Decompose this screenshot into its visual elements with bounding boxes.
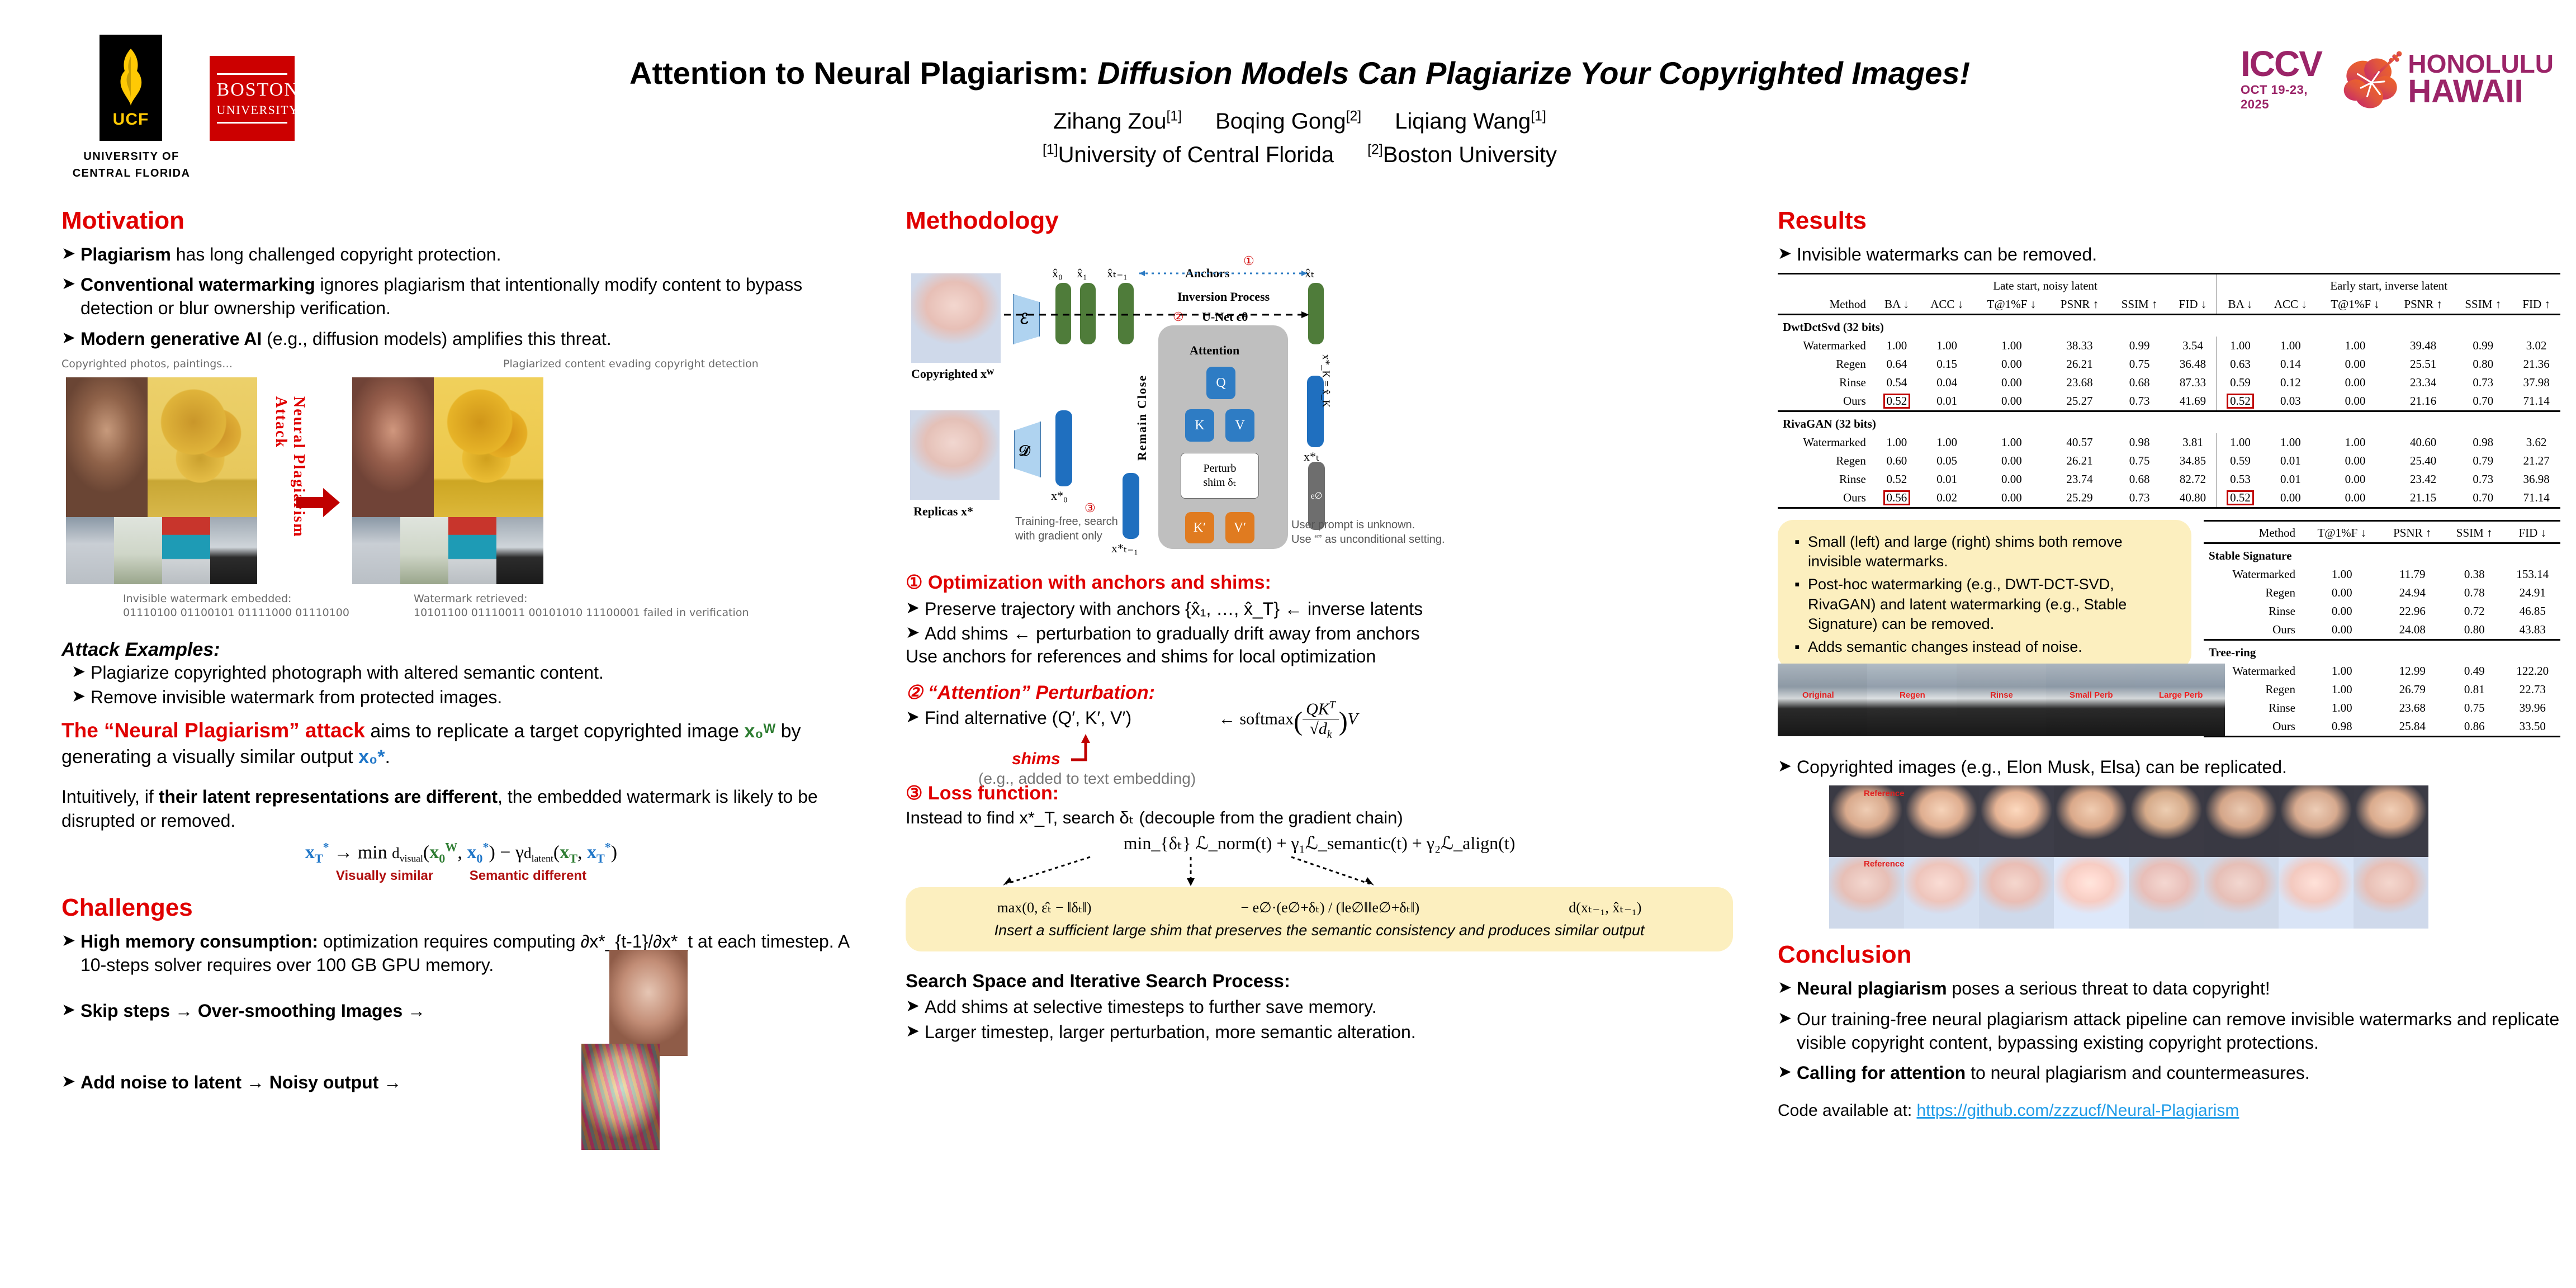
image-plane-plagiarized	[400, 517, 448, 584]
cell: 71.14	[2512, 489, 2560, 508]
cell: 23.74	[2049, 470, 2110, 489]
square-bullet-icon: ▪	[1794, 532, 1808, 571]
cell: 0.75	[2110, 355, 2169, 373]
table1-col-12: FID ↑	[2512, 295, 2560, 315]
cell: 0.02	[1920, 489, 1974, 508]
step-1-bullet-1: Preserve trajectory with anchors {x̂₁, ……	[925, 597, 1733, 621]
cell: 122.20	[2505, 662, 2560, 680]
training-free-line2: with gradient only	[1015, 529, 1121, 543]
table-section-row: DwtDctSvd (32 bits)	[1778, 315, 2560, 337]
callout-item: ▪ Post-hoc watermarking (e.g., DWT-DCT-S…	[1794, 575, 2175, 633]
cell: 26.21	[2049, 452, 2110, 470]
table1-col-3: T@1%F ↓	[1974, 295, 2049, 315]
cell: 0.86	[2444, 717, 2505, 737]
loss-term-norm: max(0, ε̂ₜ − ‖δₜ‖)	[997, 899, 1092, 916]
ucf-logo: UCF	[100, 35, 162, 141]
musk-cell	[1979, 785, 2054, 857]
author-1-sup: [1]	[1166, 109, 1182, 124]
cell: 40.80	[2169, 489, 2217, 508]
square-bullet-icon: ▪	[1794, 575, 1808, 633]
elsa-cell	[2279, 857, 2354, 929]
table-row: Rinse 1.00 23.68 0.75 39.96	[2204, 699, 2560, 717]
row-method: Watermarked	[1778, 433, 1874, 452]
conclusion-bullet: ➤ Calling for attention to neural plagia…	[1778, 1061, 2560, 1085]
bullet-arrow-icon: ➤	[61, 999, 80, 1022]
bullet-arrow-icon: ➤	[906, 622, 925, 645]
table-row: Rinse 0.54 0.04 0.00 23.68 0.68 87.33 0.…	[1778, 373, 2560, 392]
author-list: Zihang Zou[1]Boqing Gong[2]Liqiang Wang[…	[414, 106, 2186, 136]
table-row: Rinse 0.52 0.01 0.00 23.74 0.68 82.72 0.…	[1778, 470, 2560, 489]
cell: 3.02	[2512, 337, 2560, 355]
cell: 46.85	[2505, 602, 2560, 621]
cell: 0.01	[1920, 392, 1974, 411]
reference-label: Reference	[1864, 859, 1905, 869]
cell: 0.15	[1920, 355, 1974, 373]
cell: 1.00	[2303, 680, 2381, 699]
cell: 43.83	[2505, 621, 2560, 640]
moto-label-4: Large Perb	[2159, 690, 2203, 700]
table-row-ours: Ours 0.52 0.01 0.00 25.27 0.73 41.69 0.5…	[1778, 392, 2560, 411]
cell: 0.00	[2264, 489, 2318, 508]
cell: 0.14	[2264, 355, 2318, 373]
cell: 0.05	[1920, 452, 1974, 470]
table-row: Watermarked 1.00 1.00 1.00 40.57 0.98 3.…	[1778, 433, 2560, 452]
cell: 3.81	[2169, 433, 2217, 452]
cell: 0.00	[2318, 470, 2393, 489]
musk-cell	[2054, 785, 2129, 857]
callout-text-3: Adds semantic changes instead of noise.	[1808, 637, 2082, 657]
cell: 0.53	[2217, 470, 2264, 489]
cell: 37.98	[2512, 373, 2560, 392]
table-row: Regen 1.00 26.79 0.81 22.73	[2204, 680, 2560, 699]
cell: 21.15	[2393, 489, 2454, 508]
iccv-date: OCT 19-23, 2025	[2241, 83, 2335, 112]
cell: 0.99	[2110, 337, 2169, 355]
moto-label-3: Small Perb	[2070, 690, 2113, 700]
cell: 0.03	[2264, 392, 2318, 411]
cell: 24.08	[2381, 621, 2444, 640]
table-row: Regen 0.60 0.05 0.00 26.21 0.75 34.85 0.…	[1778, 452, 2560, 470]
table2-col-0: Method	[2204, 521, 2303, 543]
motivation-bullet-1-rest: has long challenged copyright protection…	[171, 244, 501, 264]
step-1-note: Use anchors for references and shims for…	[906, 646, 1733, 667]
motorcycle-comparison-strip: Original Regen Rinse Small Perb Large Pe…	[1778, 664, 2231, 736]
motivation-bullet-3-bold: Modern generative AI	[80, 329, 262, 349]
iccv-wordmark: ICCV	[2241, 47, 2322, 81]
square-bullet-icon: ▪	[1794, 637, 1808, 657]
cell: 25.51	[2393, 355, 2454, 373]
highlighted-cell: 0.52	[1884, 394, 1910, 408]
cell: 25.84	[2381, 717, 2444, 737]
user-prompt-note: User prompt is unknown. Use “” as uncond…	[1291, 518, 1459, 547]
cell: 0.00	[1974, 355, 2049, 373]
attack-examples-heading: Attack Examples:	[61, 639, 861, 661]
table2-col-2: PSNR ↑	[2381, 521, 2444, 543]
attention-label: Attention	[1190, 343, 1239, 358]
table-section-row: Tree-ring	[2204, 640, 2560, 662]
title-plain: Attention to Neural Plagiarism:	[629, 55, 1088, 91]
row-method: Ours	[1778, 392, 1874, 411]
callout-item: ▪ Small (left) and large (right) shims b…	[1794, 532, 2175, 571]
motivation-bullet-1-bold: Plagiarism	[80, 244, 171, 264]
attack-example-item: ➤ Plagiarize copyrighted photograph with…	[72, 661, 861, 684]
cell: 0.00	[2303, 621, 2381, 640]
cell: 0.00	[1974, 373, 2049, 392]
perturb-line-1: Perturb	[1204, 462, 1237, 476]
cell: 23.34	[2393, 373, 2454, 392]
diagram-label-copyrighted: Copyrighted xᵂ	[911, 367, 994, 381]
bu-wordmark-boston: BOSTON	[217, 79, 288, 101]
ucf-wordmark: UCF	[113, 110, 149, 129]
highlighted-cell: 0.52	[2227, 491, 2253, 505]
cell: 12.99	[2381, 662, 2444, 680]
step-2-bullet-text: Find alternative (Q′, K′, V′)	[925, 706, 1131, 730]
moto-cell-small-perb: Small Perb	[2046, 664, 2135, 736]
cell: 1.00	[1874, 433, 1920, 452]
table1-section-0-name: DwtDctSvd (32 bits)	[1778, 315, 2560, 337]
image-copyrighted-elsa	[911, 273, 1001, 363]
conclusion-bullet: ➤ Our training-free neural plagiarism at…	[1778, 1007, 2560, 1054]
bullet-arrow-icon: ➤	[61, 1071, 80, 1094]
bullet-arrow-icon: ➤	[1778, 1061, 1797, 1085]
cell: 0.54	[1874, 373, 1920, 392]
elsa-cell	[2354, 857, 2428, 929]
cell: 0.75	[2444, 699, 2505, 717]
latent-label-x1hat: x̂₁	[1077, 266, 1087, 281]
cell: 0.00	[1974, 452, 2049, 470]
motivation-bullet: ➤ Modern generative AI (e.g., diffusion …	[61, 327, 861, 351]
hibiscus-flower-icon	[2340, 46, 2403, 113]
cell: 1.00	[2303, 662, 2381, 680]
affiliation-list: [1]University of Central Florida[2]Bosto…	[414, 140, 2186, 170]
cell: 24.91	[2505, 584, 2560, 602]
challenge-bullet: ➤ High memory consumption: optimization …	[61, 930, 861, 977]
row-method: Rinse	[1778, 470, 1874, 489]
image-sunflowers-original	[148, 377, 257, 517]
table-row-ours: Ours 0.56 0.02 0.00 25.29 0.73 40.80 0.5…	[1778, 489, 2560, 508]
table1-col-2: ACC ↓	[1920, 295, 1974, 315]
cell: 1.00	[1920, 433, 1974, 452]
cell: 0.04	[1920, 373, 1974, 392]
search-bullet-1: Add shims at selective timesteps to furt…	[925, 995, 1733, 1019]
loss-callout-box: max(0, ε̂ₜ − ‖δₜ‖) − e∅·(e∅+δₜ) / (‖e∅‖‖…	[906, 887, 1733, 951]
iccv-city: HONOLULU	[2408, 52, 2554, 77]
column-right: Results ➤ Invisible watermarks can be re…	[1778, 207, 2560, 1120]
cell: 1.00	[1920, 337, 1974, 355]
cell: 0.73	[2454, 373, 2512, 392]
row-method: Regen	[1778, 452, 1874, 470]
musk-cell	[2129, 785, 2204, 857]
column-middle: Methodology Copyrighted xᵂ ℰ x̂₀ x̂₁ x̂ₜ…	[906, 207, 1733, 1050]
image-traffic-plagiarized	[352, 517, 400, 584]
table-row: Rinse 0.00 22.96 0.72 46.85	[2204, 602, 2560, 621]
table-row: Watermarked 1.00 1.00 1.00 38.33 0.99 3.…	[1778, 337, 2560, 355]
remain-close-label: Remain Close	[1135, 360, 1149, 461]
poster-header: UCF UNIVERSITY OF CENTRAL FLORIDA BOSTON…	[0, 0, 2576, 201]
author-2-sup: [2]	[1346, 109, 1362, 124]
cell: 0.49	[2444, 662, 2505, 680]
methodology-diagram: Copyrighted xᵂ ℰ x̂₀ x̂₁ x̂ₜ₋₁ x̂ₜ Ancho…	[906, 243, 1733, 567]
cell: 0.70	[2454, 489, 2512, 508]
cell: 39.48	[2393, 337, 2454, 355]
cell: 153.14	[2505, 565, 2560, 584]
bullet-arrow-icon: ➤	[72, 661, 91, 684]
cell: 0.01	[2264, 470, 2318, 489]
cell: 0.00	[1974, 470, 2049, 489]
moto-cell-large-perb: Large Perb	[2135, 664, 2225, 736]
cell: 23.68	[2049, 373, 2110, 392]
callout-text-1: Small (left) and large (right) shims bot…	[1808, 532, 2175, 571]
section-heading-results: Results	[1778, 207, 2560, 235]
watermark-retrieved-label: Watermark retrieved:	[414, 592, 749, 606]
results-table-watermark: Late start, noisy latent Early start, in…	[1778, 273, 2560, 509]
user-prompt-line1: User prompt is unknown.	[1291, 518, 1459, 532]
attack-example-1: Plagiarize copyrighted photograph with a…	[91, 661, 861, 684]
cell: 1.00	[1974, 337, 2049, 355]
elsa-cell	[2204, 857, 2279, 929]
latent-label-x0hat: x̂₀	[1052, 266, 1063, 281]
perturb-shim-box: Perturb shim δₜ	[1181, 453, 1259, 499]
results-lead-text: Invisible watermarks can be removed.	[1797, 243, 2560, 266]
highlighted-cell: 0.56	[1884, 491, 1910, 505]
conclusion-2-rest: Our training-free neural plagiarism atta…	[1797, 1007, 2560, 1054]
original-image-grid	[66, 377, 257, 584]
image-sunflowers-plagiarized	[434, 377, 543, 517]
challenge-bullet: ➤ Add noise to latent → Noisy output →	[61, 1071, 401, 1094]
attack-example-2: Remove invisible watermark from protecte…	[91, 685, 861, 709]
pegasus-icon	[113, 46, 148, 108]
cell: 3.62	[2512, 433, 2560, 452]
section-heading-conclusion: Conclusion	[1778, 941, 2560, 969]
challenge-3-bold: Add noise to latent → Noisy output →	[80, 1071, 401, 1094]
bullet-arrow-icon: ➤	[61, 243, 80, 266]
replicate-bullet: ➤ Copyrighted images (e.g., Elon Musk, E…	[1778, 755, 2560, 779]
musk-cell	[2204, 785, 2279, 857]
attack-arrow-icon	[296, 486, 341, 519]
cell: 82.72	[2169, 470, 2217, 489]
cell: 0.63	[2217, 355, 2264, 373]
image-replica-elsa	[910, 410, 1000, 500]
challenge-1-bold: High memory consumption:	[80, 931, 318, 951]
shims-pointer-arrow-icon	[1068, 733, 1090, 764]
bullet-arrow-icon: ➤	[1778, 243, 1797, 266]
loss-caption: Insert a sufficient large shim that pres…	[922, 922, 1716, 939]
conclusion-3-bold: Calling for attention	[1797, 1063, 1966, 1083]
cell: 25.29	[2049, 489, 2110, 508]
attention-kprime-block: K′	[1185, 512, 1214, 543]
cell: 1.00	[2303, 565, 2381, 584]
diagram-label-replicas: Replicas x*	[913, 504, 973, 519]
table1-col-8: ACC ↓	[2264, 295, 2318, 315]
author-1: Zihang Zou	[1053, 109, 1166, 134]
row-method: Regen	[1778, 355, 1874, 373]
cell: 21.36	[2512, 355, 2560, 373]
table-section-row: Stable Signature	[2204, 543, 2560, 566]
row-method: Rinse	[2204, 602, 2303, 621]
musk-cell	[2279, 785, 2354, 857]
image-moto-plagiarized	[496, 517, 543, 584]
bullet-arrow-icon: ➤	[1778, 1007, 1797, 1054]
figure-note-bottom-right: Watermark retrieved: 10101100 01110011 0…	[414, 592, 749, 619]
image-traffic-original	[66, 517, 114, 584]
conclusion-1-bold: Neural plagiarism	[1797, 978, 1947, 998]
unet-box	[1158, 325, 1288, 549]
intuition-paragraph: Intuitively, if their latent representat…	[61, 785, 861, 833]
cell: 36.48	[2169, 355, 2217, 373]
table1-col-11: SSIM ↑	[2454, 295, 2512, 315]
callout-text-2: Post-hoc watermarking (e.g., DWT-DCT-SVD…	[1808, 575, 2175, 633]
step-1-bullet-2: Add shims ← perturbation to gradually dr…	[925, 622, 1733, 645]
cell: 21.27	[2512, 452, 2560, 470]
table1-col-5: SSIM ↑	[2110, 295, 2169, 315]
claim-math-2: x₀*	[358, 746, 385, 768]
elsa-cell	[1904, 857, 1979, 929]
cell: 0.01	[2264, 452, 2318, 470]
cell: 87.33	[2169, 373, 2217, 392]
table-row-ours: Ours 0.00 24.08 0.80 43.83	[2204, 621, 2560, 640]
image-bus-plagiarized	[448, 517, 496, 584]
cell: 1.00	[2264, 337, 2318, 355]
cell: 0.98	[2303, 717, 2381, 737]
attention-vprime-block: V′	[1225, 512, 1254, 543]
cell: 0.60	[1874, 452, 1920, 470]
watermark-retrieved-bits: 10101100 01110011 00101010 11100001 fail…	[414, 606, 749, 620]
bullet-arrow-icon: ➤	[61, 327, 80, 351]
search-bullet: ➤ Add shims at selective timesteps to fu…	[906, 995, 1733, 1019]
table1-col-7: BA ↓	[2217, 295, 2264, 315]
cell: 0.73	[2110, 489, 2169, 508]
table1-col-10: PSNR ↑	[2393, 295, 2454, 315]
conclusion-bullet: ➤ Neural plagiarism poses a serious thre…	[1778, 977, 2560, 1000]
iccv-state: HAWAII	[2408, 76, 2523, 107]
results-table-latent: Method T@1%F ↓ PSNR ↑ SSIM ↑ FID ↓ Stabl…	[2204, 520, 2560, 737]
latent-xt1-star	[1123, 473, 1139, 539]
diagram-marker-2: ②	[1173, 310, 1184, 324]
cell: 71.14	[2512, 392, 2560, 411]
bullet-arrow-icon: ➤	[906, 1020, 925, 1044]
step-3-formula: min_{δₜ} ℒ_norm(t) + γ₁ℒ_semantic(t) + γ…	[906, 832, 1733, 854]
code-availability: Code available at: https://github.com/zz…	[1778, 1101, 2560, 1120]
table2-section-1-name: Tree-ring	[2204, 640, 2560, 662]
diagram-marker-1: ①	[1243, 254, 1254, 268]
cell: 0.73	[2110, 392, 2169, 411]
cell: 0.59	[2217, 452, 2264, 470]
table-group-header-row: Late start, noisy latent Early start, in…	[1778, 274, 2560, 296]
loss-term-align: d(xₜ₋₁, x̂ₜ₋₁)	[1569, 899, 1641, 916]
loss-term-semantic: − e∅·(e∅+δₜ) / (‖e∅‖‖e∅+δₜ‖)	[1240, 899, 1419, 916]
cell: 0.52	[1874, 470, 1920, 489]
table2-col-4: FID ↓	[2505, 521, 2560, 543]
claim-rest-1: aims to replicate a target copyrighted i…	[365, 721, 744, 742]
intuition-part-1: Intuitively, if	[61, 787, 159, 807]
table1-group-2: Early start, inverse latent	[2217, 274, 2560, 296]
moto-label-0: Original	[1802, 690, 1834, 700]
cell: 0.00	[1974, 392, 2049, 411]
inversion-process-label: Inversion Process	[1177, 290, 1270, 304]
cell: 0.98	[2110, 433, 2169, 452]
latent-x0-star	[1055, 410, 1072, 486]
search-bullet: ➤ Larger timestep, larger perturbation, …	[906, 1020, 1733, 1044]
watermark-embedded-label: Invisible watermark embedded:	[123, 592, 349, 606]
intuition-bold: their latent representations are differe…	[159, 787, 498, 807]
code-label: Code available at:	[1778, 1101, 1917, 1120]
cell: 24.94	[2381, 584, 2444, 602]
cell: 36.98	[2512, 470, 2560, 489]
conclusion-3-rest: to neural plagiarism and countermeasures…	[1966, 1063, 2309, 1083]
cell: 0.01	[1920, 470, 1974, 489]
column-left: Motivation ➤ Plagiarism has long challen…	[61, 207, 861, 1129]
cell: 40.57	[2049, 433, 2110, 452]
row-method: Ours	[2204, 621, 2303, 640]
cell: 26.79	[2381, 680, 2444, 699]
brace-label-visual: Visually similar	[336, 868, 433, 883]
elsa-replica-strip: Reference	[1829, 857, 2560, 929]
table-row: Regen 0.64 0.15 0.00 26.21 0.75 36.48 0.…	[1778, 355, 2560, 373]
inversion-arrow-icon	[1004, 311, 1310, 319]
cell: 23.42	[2393, 470, 2454, 489]
objective-formula: xT* → min dvisual(x0W, x0*) − γdlatent(x…	[61, 840, 861, 866]
author-3: Liqiang Wang	[1395, 109, 1531, 134]
ucf-caption-line1: UNIVERSITY OF	[67, 148, 196, 165]
diagram-marker-3: ③	[1085, 501, 1096, 515]
table1-col-9: T@1%F ↓	[2318, 295, 2393, 315]
shims-callout-label: shims	[1012, 750, 1060, 769]
code-repo-link[interactable]: https://github.com/zzzucf/Neural-Plagiar…	[1917, 1101, 2239, 1120]
cell: 26.21	[2049, 355, 2110, 373]
image-over-smoothed	[609, 950, 688, 1056]
cell: 1.00	[2303, 699, 2381, 717]
cell: 23.68	[2381, 699, 2444, 717]
row-method: Ours	[1778, 489, 1874, 508]
bullet-arrow-icon: ➤	[61, 930, 80, 977]
cell: 0.00	[2318, 452, 2393, 470]
neural-plagiarism-claim: The “Neural Plagiarism” attack aims to r…	[61, 717, 861, 770]
search-bullet-2: Larger timestep, larger perturbation, mo…	[925, 1020, 1733, 1044]
cell: 25.27	[2049, 392, 2110, 411]
cell: 1.00	[2318, 337, 2393, 355]
author-3-sup: [1]	[1531, 109, 1546, 124]
bullet-arrow-icon: ➤	[906, 995, 925, 1019]
loss-term-arrows-icon	[906, 855, 1465, 889]
row-method: Regen	[2204, 584, 2303, 602]
cell: 1.00	[1874, 337, 1920, 355]
step-3-line: Instead to find x*_T, search δₜ (decoupl…	[906, 808, 1733, 828]
cell: 34.85	[2169, 452, 2217, 470]
motivation-bullet-3-rest: (e.g., diffusion models) amplifies this …	[262, 329, 611, 349]
cell: 38.33	[2049, 337, 2110, 355]
neural-plagiarism-attack-label: Neural Plagiarism Attack	[272, 396, 307, 558]
figure-note-bottom-left: Invisible watermark embedded: 01110100 0…	[123, 592, 349, 619]
figure-note-top-right: Plagiarized content evading copyright de…	[503, 357, 759, 371]
cell: 0.00	[1974, 489, 2049, 508]
motivation-bullet: ➤ Plagiarism has long challenged copyrig…	[61, 243, 861, 266]
image-girl-plagiarized	[352, 377, 434, 517]
search-space-heading: Search Space and Iterative Search Proces…	[906, 970, 1733, 992]
cell: 22.73	[2505, 680, 2560, 699]
musk-cell-reference: Reference	[1829, 785, 1904, 857]
table1-col-1: BA ↓	[1874, 295, 1920, 315]
motivation-bullet-2-bold: Conventional watermarking	[80, 274, 315, 295]
musk-cell	[1904, 785, 1979, 857]
cell: 0.75	[2110, 452, 2169, 470]
attention-q-block: Q	[1206, 367, 1235, 399]
cell: 0.70	[2454, 392, 2512, 411]
attention-formula: ← softmax( QKT √dk )V	[1219, 699, 1358, 741]
moto-cell-original: Original	[1778, 664, 1867, 736]
claim-math-1: x₀ᵂ	[744, 721, 775, 742]
cell: 1.00	[2217, 433, 2264, 452]
cell: 0.99	[2454, 337, 2512, 355]
